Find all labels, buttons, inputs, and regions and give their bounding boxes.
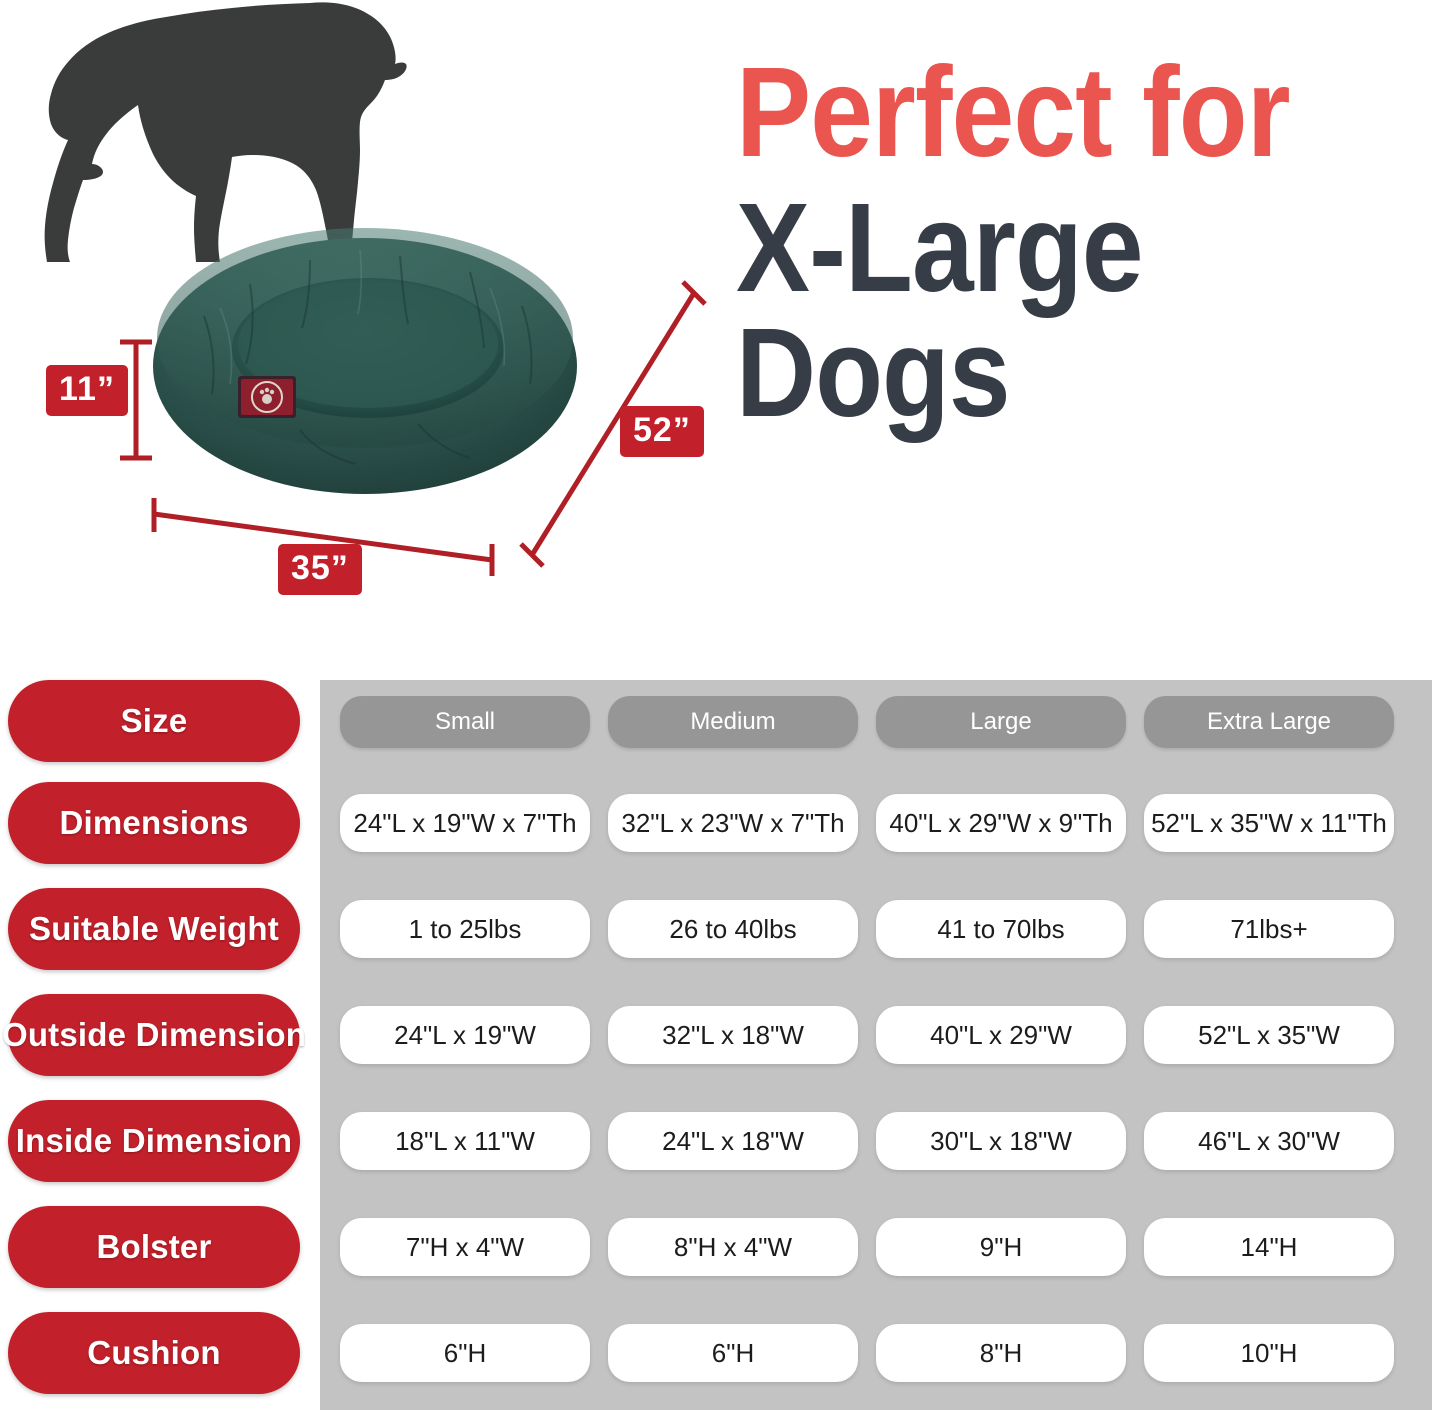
cell-dimensions-medium: 32"L x 23"W x 7"Th <box>608 794 858 852</box>
column-header-extra-large: Extra Large <box>1144 696 1394 748</box>
brand-tag <box>238 376 296 418</box>
cell-outside-dimension-extra-large: 52"L x 35"W <box>1144 1006 1394 1064</box>
cell-outside-dimension-small: 24"L x 19"W <box>340 1006 590 1064</box>
table-row: 24"L x 19"W 32"L x 18"W 40"L x 29"W 52"L… <box>340 1006 1412 1064</box>
table-header-row: Small Medium Large Extra Large <box>340 696 1412 748</box>
column-header-large: Large <box>876 696 1126 748</box>
cell-bolster-extra-large: 14"H <box>1144 1218 1394 1276</box>
headline-line-2: X-Large <box>736 188 1352 308</box>
dimension-label-length: 52” <box>620 406 704 457</box>
table-row: 6"H 6"H 8"H 10"H <box>340 1324 1412 1382</box>
headline-line-3: Dogs <box>736 313 1352 433</box>
cell-bolster-medium: 8"H x 4"W <box>608 1218 858 1276</box>
cell-dimensions-extra-large: 52"L x 35"W x 11"Th <box>1144 794 1394 852</box>
cell-outside-dimension-large: 40"L x 29"W <box>876 1006 1126 1064</box>
cell-suitable-weight-extra-large: 71lbs+ <box>1144 900 1394 958</box>
headline: Perfect for X-Large Dogs <box>736 52 1436 433</box>
table-row: 18"L x 11"W 24"L x 18"W 30"L x 18"W 46"L… <box>340 1112 1412 1170</box>
cell-inside-dimension-small: 18"L x 11"W <box>340 1112 590 1170</box>
row-label-inside-dimension: Inside Dimension <box>8 1100 300 1182</box>
cell-cushion-medium: 6"H <box>608 1324 858 1382</box>
cell-cushion-large: 8"H <box>876 1324 1126 1382</box>
dimension-label-height: 11” <box>46 365 128 416</box>
cell-cushion-small: 6"H <box>340 1324 590 1382</box>
cell-suitable-weight-small: 1 to 25lbs <box>340 900 590 958</box>
cell-cushion-extra-large: 10"H <box>1144 1324 1394 1382</box>
table-row: 24"L x 19"W x 7"Th 32"L x 23"W x 7"Th 40… <box>340 794 1412 852</box>
cell-bolster-small: 7"H x 4"W <box>340 1218 590 1276</box>
cell-dimensions-large: 40"L x 29"W x 9"Th <box>876 794 1126 852</box>
row-label-size: Size <box>8 680 300 762</box>
cell-suitable-weight-medium: 26 to 40lbs <box>608 900 858 958</box>
hero-section: 11” 52” 35” Perfect for X-Large Dogs <box>0 0 1445 660</box>
row-label-cushion: Cushion <box>8 1312 300 1394</box>
cell-bolster-large: 9"H <box>876 1218 1126 1276</box>
row-label-suitable-weight: Suitable Weight <box>8 888 300 970</box>
headline-line-1: Perfect for <box>736 52 1352 174</box>
row-label-dimensions: Dimensions <box>8 782 300 864</box>
column-header-small: Small <box>340 696 590 748</box>
cell-inside-dimension-large: 30"L x 18"W <box>876 1112 1126 1170</box>
column-header-medium: Medium <box>608 696 858 748</box>
cell-inside-dimension-extra-large: 46"L x 30"W <box>1144 1112 1394 1170</box>
cell-inside-dimension-medium: 24"L x 18"W <box>608 1112 858 1170</box>
product-infographic: 11” 52” 35” Perfect for X-Large Dogs Siz… <box>0 0 1445 1410</box>
table-row: 7"H x 4"W 8"H x 4"W 9"H 14"H <box>340 1218 1412 1276</box>
table-row: 1 to 25lbs 26 to 40lbs 41 to 70lbs 71lbs… <box>340 900 1412 958</box>
cell-suitable-weight-large: 41 to 70lbs <box>876 900 1126 958</box>
specification-table: Size Dimensions Suitable Weight Outside … <box>0 672 1445 1410</box>
cell-outside-dimension-medium: 32"L x 18"W <box>608 1006 858 1064</box>
dimension-label-width: 35” <box>278 544 362 595</box>
cell-dimensions-small: 24"L x 19"W x 7"Th <box>340 794 590 852</box>
row-label-outside-dimension: Outside Dimension <box>8 994 300 1076</box>
row-label-bolster: Bolster <box>8 1206 300 1288</box>
